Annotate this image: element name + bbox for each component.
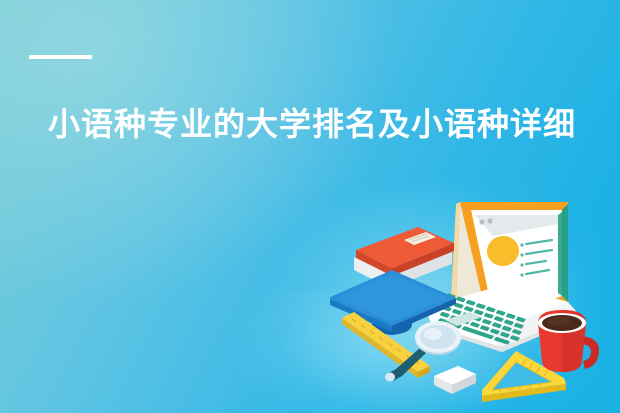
isometric-desk-illustration <box>330 196 620 413</box>
coffee-mug-icon <box>538 310 599 372</box>
banner-card: 小语种专业的大学排名及小语种详细 <box>0 0 620 413</box>
desk-scene-svg <box>330 196 620 413</box>
accent-rule <box>29 55 92 59</box>
banner-title: 小语种专业的大学排名及小语种详细 <box>0 103 620 145</box>
eraser-icon <box>434 366 476 394</box>
